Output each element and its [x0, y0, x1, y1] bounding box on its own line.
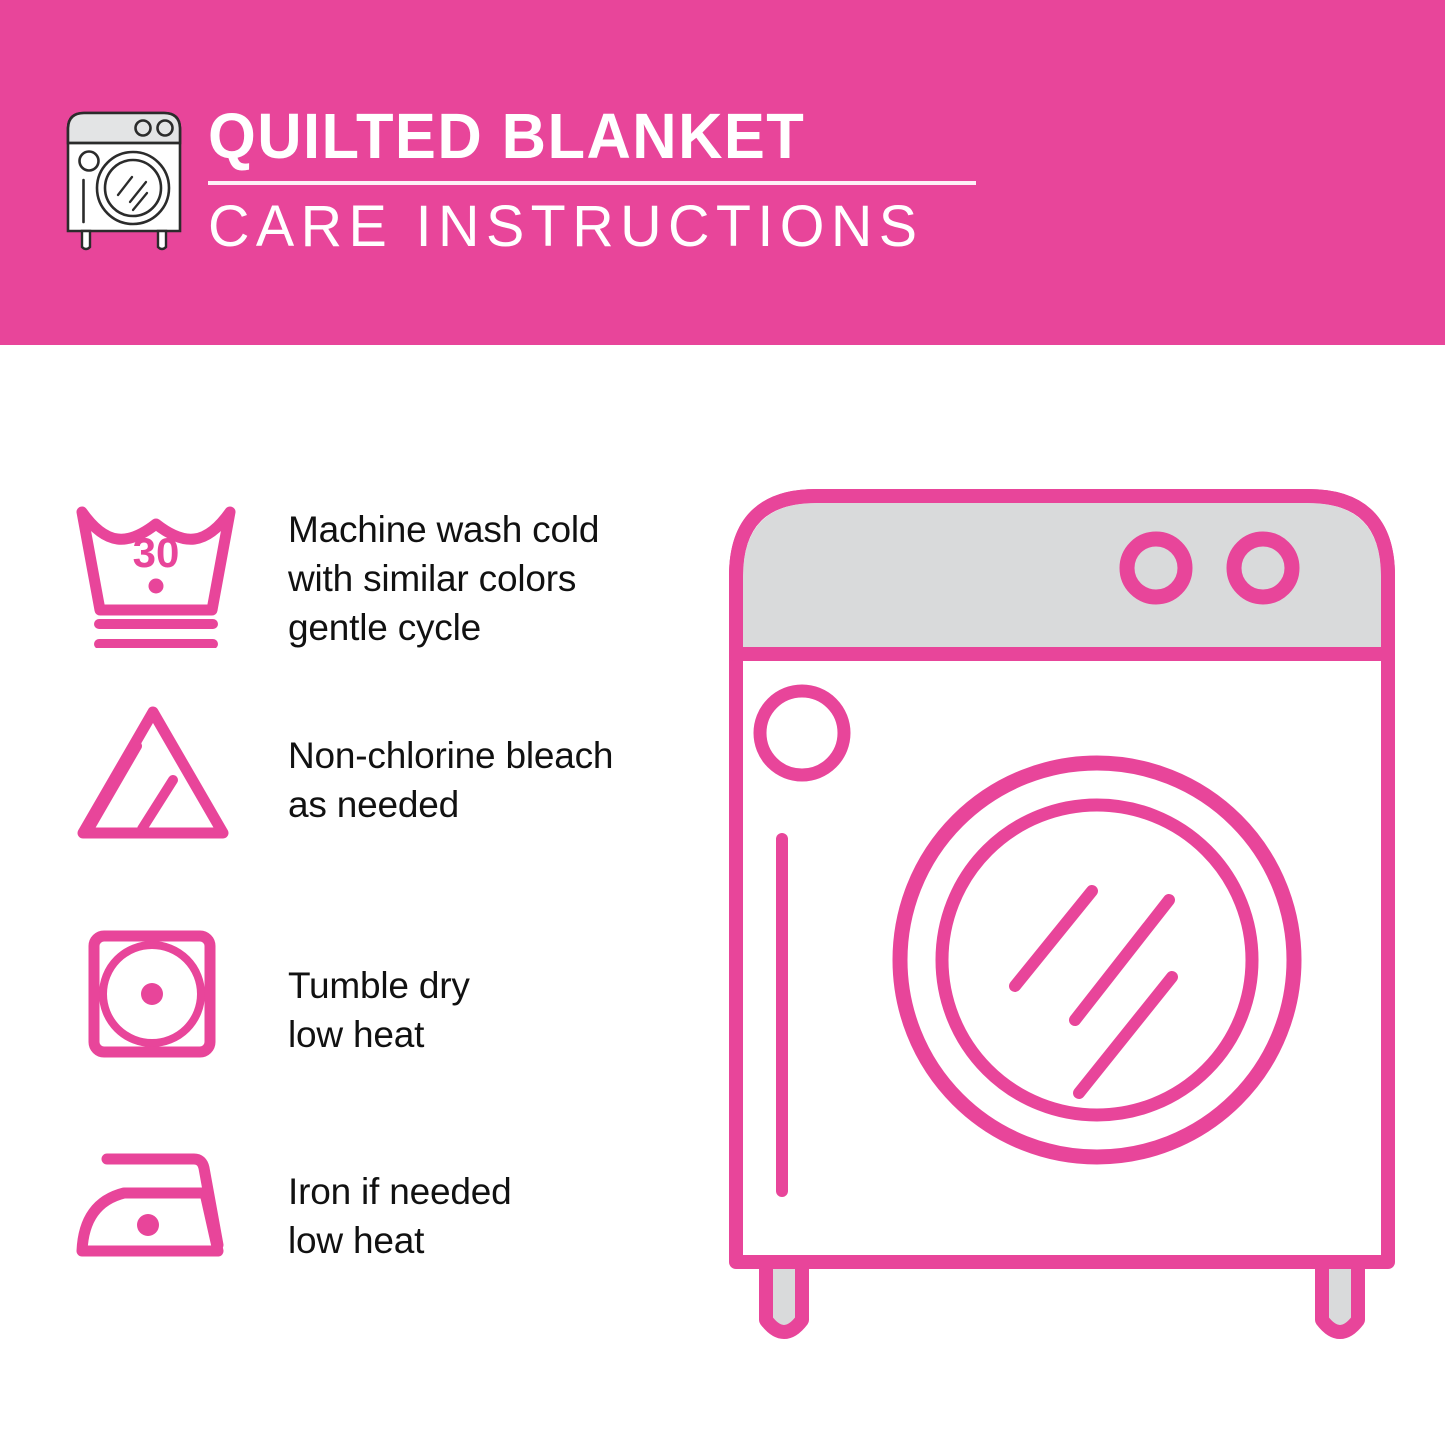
- wash-temperature-label: 30: [133, 529, 180, 576]
- page-title: QUILTED BLANKET: [208, 104, 966, 168]
- tumble-dry-low-icon: [86, 930, 218, 1058]
- iron-low-heat-icon: [72, 1145, 240, 1267]
- bleach-triangle-icon: [72, 702, 234, 844]
- care-text-bleach: Non-chlorine bleach as needed: [288, 732, 613, 830]
- care-text-iron: Iron if needed low heat: [288, 1168, 511, 1266]
- care-text-dry: Tumble dry low heat: [288, 962, 470, 1060]
- front-load-washing-machine-illustration: [722, 482, 1402, 1362]
- page-subtitle: CARE INSTRUCTIONS: [208, 198, 990, 256]
- wash-basin-30-icon: 30: [72, 498, 240, 648]
- header-text-block: QUILTED BLANKET CARE INSTRUCTIONS: [208, 104, 998, 256]
- title-divider: [208, 181, 976, 185]
- header-banner: QUILTED BLANKET CARE INSTRUCTIONS: [0, 0, 1445, 345]
- care-text-wash: Machine wash cold with similar colors ge…: [288, 506, 599, 652]
- washing-machine-icon: [60, 103, 188, 253]
